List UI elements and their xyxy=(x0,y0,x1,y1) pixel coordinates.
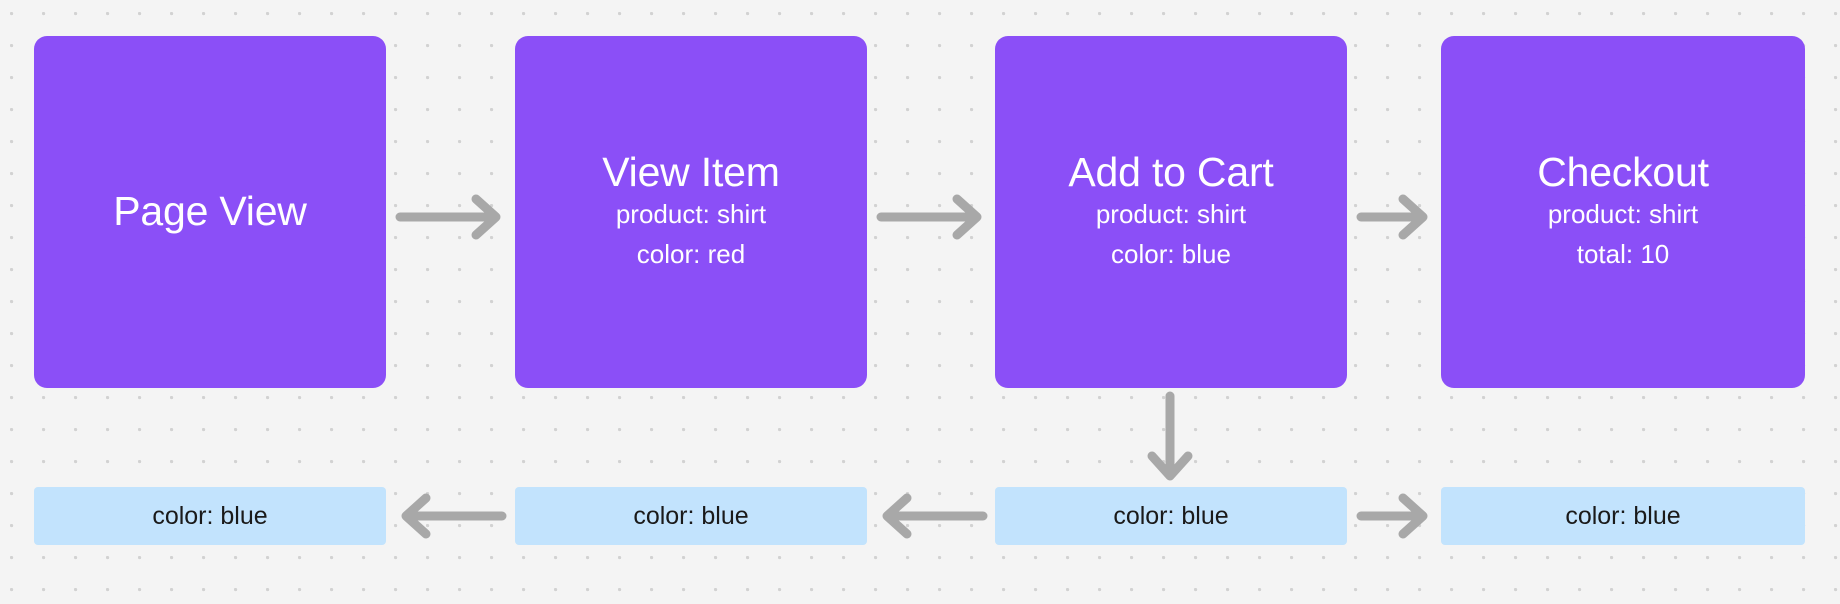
arrow-add-to-cart-to-chip-3 xyxy=(1148,392,1192,484)
event-property: color: blue xyxy=(1111,235,1231,275)
property-chip-label: color: blue xyxy=(1565,502,1680,531)
property-chip-label: color: blue xyxy=(633,502,748,531)
arrow-chip-3-to-chip-2 xyxy=(877,494,987,538)
property-chip-label: color: blue xyxy=(152,502,267,531)
event-node-properties: product: shirt total: 10 xyxy=(1548,195,1698,274)
arrow-chip-3-to-chip-4 xyxy=(1357,494,1433,538)
event-property: product: shirt xyxy=(1096,195,1246,235)
property-chip-3[interactable]: color: blue xyxy=(995,487,1347,545)
property-chip-1[interactable]: color: blue xyxy=(34,487,386,545)
event-node-properties: product: shirt color: blue xyxy=(1096,195,1246,274)
arrow-add-to-cart-to-checkout xyxy=(1357,195,1433,239)
arrow-chip-2-to-chip-1 xyxy=(396,494,506,538)
event-node-title: View Item xyxy=(602,150,779,196)
arrow-view-item-to-add-to-cart xyxy=(877,195,987,239)
property-chip-2[interactable]: color: blue xyxy=(515,487,867,545)
property-chip-4[interactable]: color: blue xyxy=(1441,487,1805,545)
event-node-title: Add to Cart xyxy=(1068,150,1273,196)
property-chip-label: color: blue xyxy=(1113,502,1228,531)
event-property: product: shirt xyxy=(616,195,766,235)
event-node-page-view[interactable]: Page View xyxy=(34,36,386,388)
event-property: total: 10 xyxy=(1577,235,1670,275)
event-node-title: Checkout xyxy=(1537,150,1709,196)
arrow-page-view-to-view-item xyxy=(396,195,506,239)
event-property: color: red xyxy=(637,235,745,275)
event-property: product: shirt xyxy=(1548,195,1698,235)
event-node-view-item[interactable]: View Item product: shirt color: red xyxy=(515,36,867,388)
event-node-title: Page View xyxy=(113,189,306,235)
event-node-add-to-cart[interactable]: Add to Cart product: shirt color: blue xyxy=(995,36,1347,388)
event-node-checkout[interactable]: Checkout product: shirt total: 10 xyxy=(1441,36,1805,388)
event-node-properties: product: shirt color: red xyxy=(616,195,766,274)
diagram-canvas: Page View View Item product: shirt color… xyxy=(0,0,1840,604)
